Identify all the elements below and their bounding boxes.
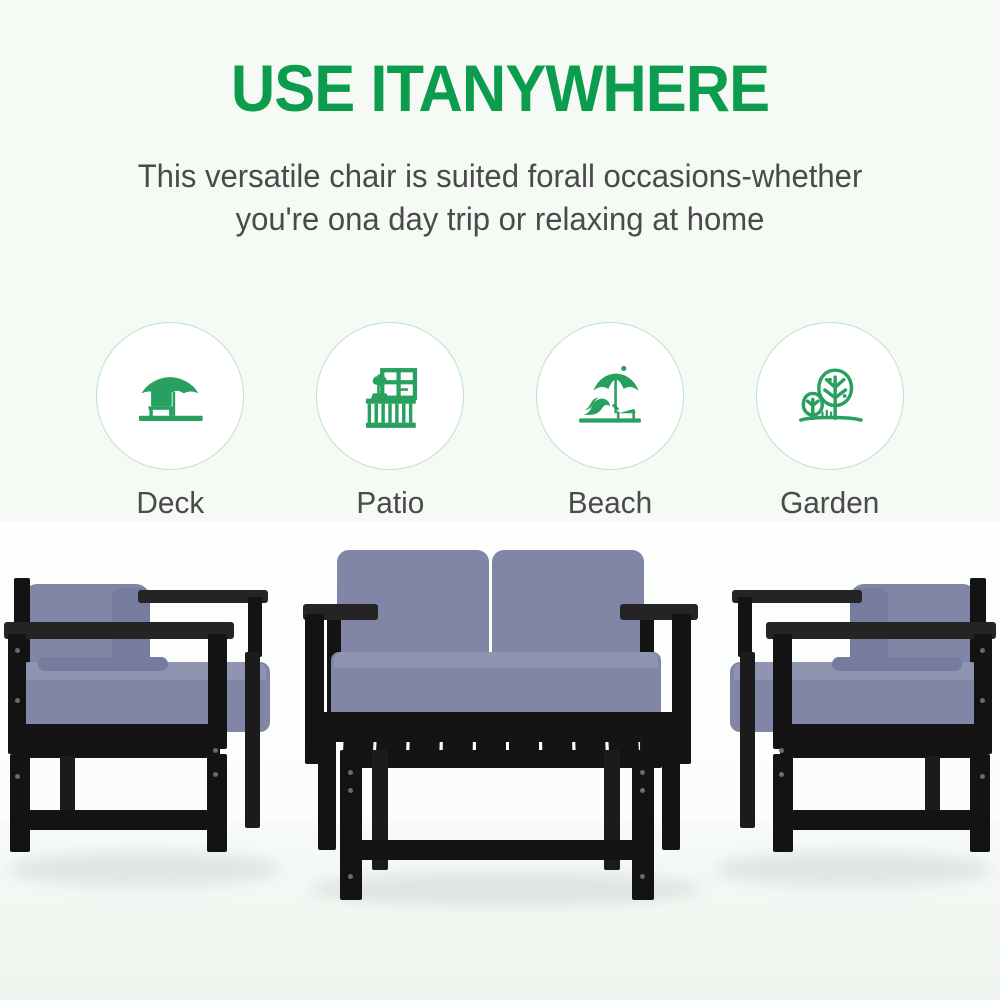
deck-umbrella-chair-icon [127,353,213,439]
feature-icon-circle-patio [316,322,464,470]
right-armchair-screw-5 [779,772,784,777]
feature-icon-circle-beach [536,322,684,470]
right-armchair-far-arm-post [738,597,752,657]
right-armchair-stretcher [774,810,986,830]
feature-item-garden[interactable]: Garden [720,322,940,522]
left-armchair-screw-3 [15,774,20,779]
coffee-table-screw-5 [348,874,353,879]
left-armchair-stretcher [14,810,226,830]
left-armchair-screw-2 [15,698,20,703]
page-headline: USE ITANYWHERE [35,52,965,124]
feature-icon-row: Deck [60,322,940,522]
feature-icon-circle-garden [756,322,904,470]
feature-label-patio: Patio [356,484,424,522]
right-armchair-front-apron [780,724,980,758]
shadow-left [10,852,280,886]
beach-umbrella-wave-lounger-icon [567,353,653,439]
left-armchair-screw-5 [213,772,218,777]
coffee-table-stretcher [348,840,648,860]
coffee-table-screw-6 [640,874,645,879]
loveseat-leg-front-right [662,738,680,850]
left-armchair-seat-cushion-fold [38,657,168,671]
right-armchair-seat-cushion-fold [832,657,962,671]
left-armchair-screw-1 [15,648,20,653]
right-armchair-near-armrest [766,622,996,639]
feature-item-beach[interactable]: Beach [500,322,720,522]
feature-label-garden: Garden [780,484,879,522]
coffee-table-screw-2 [348,788,353,793]
right-armchair-screw-2 [980,698,985,703]
left-armchair-leg-front-right [207,754,227,852]
left-armchair-leg-front-left [10,754,30,852]
right-armchair-leg-front-right [970,754,990,852]
left-armchair-screw-4 [213,748,218,753]
coffee-table-screw-3 [640,770,645,775]
left-armchair-near-armrest [4,622,234,639]
garden-trees-bush-icon [787,353,873,439]
subheadline-line-2: you're ona day trip or relaxing at home [64,198,937,241]
right-armchair-screw-3 [980,774,985,779]
coffee-table-screw-4 [640,788,645,793]
patio-balcony-railing-icon [347,353,433,439]
left-armchair-leg-rear-right [245,652,260,828]
feature-graphic-page: USE ITANYWHERE This versatile chair is s… [0,0,1000,1000]
shadow-right [715,852,990,886]
right-armchair-leg-rear-left [740,652,755,828]
left-armchair-far-arm-post [248,597,262,657]
right-armchair-screw-1 [980,648,985,653]
left-armchair-front-apron [20,724,220,758]
coffee-table-screw-1 [348,770,353,775]
page-subheadline: This versatile chair is suited forall oc… [64,155,937,241]
right-armchair-leg-front-left [773,754,793,852]
feature-icon-circle-deck [96,322,244,470]
loveseat-leg-front-left [318,738,336,850]
feature-item-patio[interactable]: Patio [280,322,500,522]
right-armchair-screw-4 [779,748,784,753]
subheadline-line-1: This versatile chair is suited forall oc… [64,155,937,198]
loveseat-seat-cushion-top [334,652,658,668]
feature-label-beach: Beach [568,484,652,522]
feature-item-deck[interactable]: Deck [60,322,280,522]
feature-label-deck: Deck [136,484,204,522]
product-photo [0,522,1000,1000]
